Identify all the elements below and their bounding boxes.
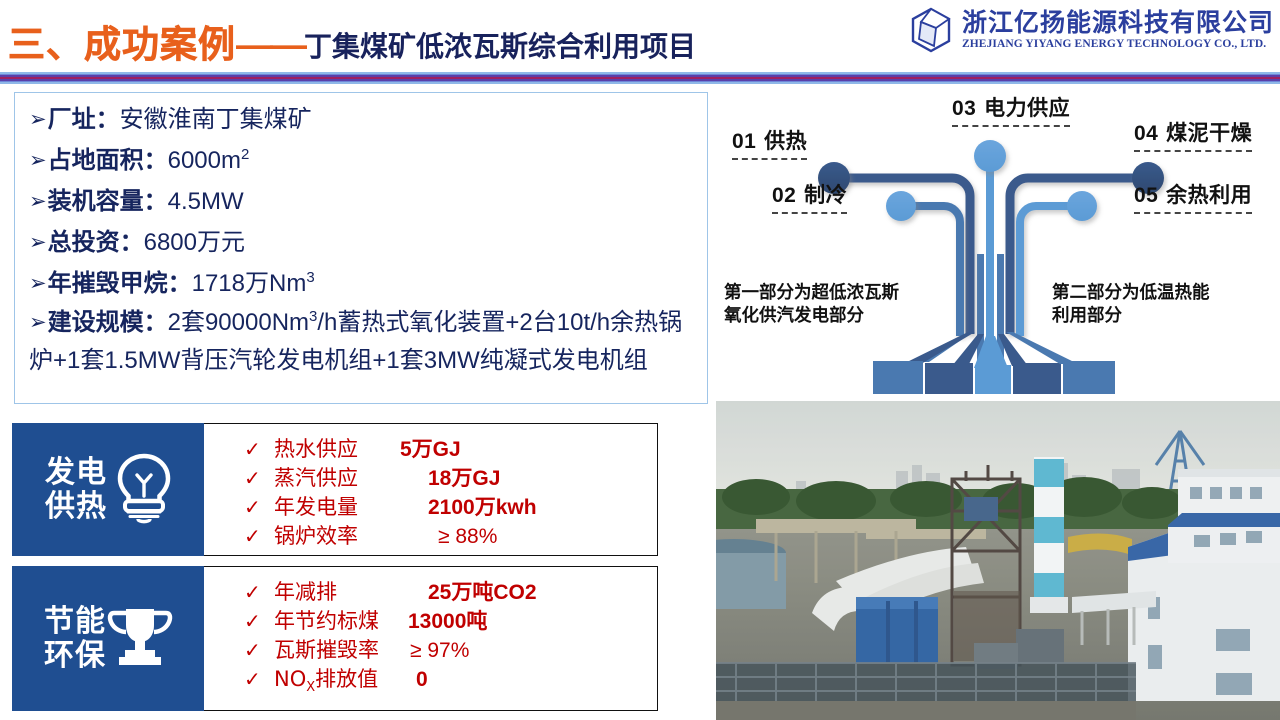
feature-body-eco: ✓ 年减排 25万吨CO2 ✓ 年节约标煤 13000吨 ✓ 瓦斯摧毁率 ≥ 9… [204,566,658,711]
scale-label: 建设规模 [48,308,144,336]
metric-value: ≥ 97% [400,639,469,663]
list-item: ✓ 年节约标煤 13000吨 [244,605,657,634]
list-item: ➢ 厂址 ： 安徽淮南丁集煤矿 [29,99,701,140]
list-item: ➢ 占地面积 ： 6000m2 [29,140,701,181]
slide-header: 三、 成功案例 —— 丁集煤矿低浓瓦斯综合利用项目 浙江亿扬能源科技有限公司 Z… [0,0,1280,72]
check-icon: ✓ [244,667,274,691]
diagram-label-03: 03 电力供应 [952,92,1070,127]
metric-name: 年发电量 [274,491,400,521]
list-item: ✓ 热水供应 5万GJ [244,433,657,462]
metric-name: 年减排 [274,576,400,606]
hexagon-logo-icon [908,6,954,54]
list-item: ✓ 年发电量 2100万kwh [244,491,657,520]
section-title: 成功案例 [84,14,236,68]
info-value: 4.5MW [168,188,244,216]
list-item: ✓ 瓦斯摧毁率 ≥ 97% [244,634,657,663]
company-logo: 浙江亿扬能源科技有限公司 ZHEJIANG YIYANG ENERGY TECH… [908,6,1274,54]
list-item: ✓ 年减排 25万吨CO2 [244,576,657,605]
logo-company-en: ZHEJIANG YIYANG ENERGY TECHNOLOGY CO., L… [962,38,1274,50]
bullet-arrow-icon: ➢ [29,109,47,130]
info-separator: ： [144,140,168,175]
metric-name: 锅炉效率 [274,520,400,550]
check-icon: ✓ [244,524,274,548]
metric-name: 蒸汽供应 [274,462,400,492]
metric-value: 2100万kwh [400,491,537,521]
info-label: 年摧毁甲烷 [48,263,168,298]
list-item: ✓ NOX排放值 0 [244,663,657,692]
node-05-dot [1067,191,1097,221]
list-item: ✓ 蒸汽供应 18万GJ [244,462,657,491]
info-separator: ： [144,181,168,216]
metric-value: ≥ 88% [400,525,497,549]
info-separator: ： [96,99,120,134]
header-divider [0,72,1280,84]
bullet-arrow-icon: ➢ [29,150,47,171]
check-icon: ✓ [244,609,274,633]
check-icon: ✓ [244,466,274,490]
scale-separator: ： [144,308,168,336]
project-info-box: ➢ 厂址 ： 安徽淮南丁集煤矿 ➢ 占地面积 ： 6000m2 ➢ 装机容量 ：… [14,92,708,404]
info-separator: ： [120,222,144,257]
list-item: ➢ 总投资 ： 6800万元 [29,222,701,263]
check-icon: ✓ [244,495,274,519]
feature-block-eco: 节能环保 ✓ 年减排 25万吨CO2 ✓ 年节约 [12,566,658,711]
metric-name: NOX排放值 [274,663,400,695]
metric-name: 年节约标煤 [274,605,400,635]
node-02-dot [886,191,916,221]
slide-root: 三、 成功案例 —— 丁集煤矿低浓瓦斯综合利用项目 浙江亿扬能源科技有限公司 Z… [0,0,1280,720]
logo-company-cn: 浙江亿扬能源科技有限公司 [962,10,1274,36]
plant-photo [716,401,1280,720]
info-label: 装机容量 [48,181,144,216]
check-icon: ✓ [244,638,274,662]
energy-flow-diagram: 01 供热 02 制冷 03 电力供应 04 煤泥干燥 05 余热利用 第一部分… [716,84,1280,400]
trophy-icon [102,603,178,674]
title-dash: —— [236,24,304,66]
check-icon: ✓ [244,437,274,461]
list-item: ➢ 年摧毁甲烷 ： 1718万Nm3 [29,263,701,304]
info-value-sup: 2 [241,146,249,163]
info-value: 6800万元 [144,222,245,257]
diagram-label-02: 02 制冷 [772,179,847,214]
feature-body-power: ✓ 热水供应 5万GJ ✓ 蒸汽供应 18万GJ ✓ 年发电量 2100万kwh… [204,423,658,556]
info-value-sup: 3 [306,269,314,286]
metric-name: 瓦斯摧毁率 [274,634,400,664]
bullet-arrow-icon: ➢ [29,273,47,294]
feature-tag-label: 节能环保 [44,605,106,672]
info-label: 占地面积 [48,140,144,175]
diagram-label-05: 05 余热利用 [1134,179,1252,214]
diagram-caption-left: 第一部分为超低浓瓦斯 氧化供汽发电部分 [724,282,899,328]
metric-value: 13000吨 [400,605,487,635]
project-title: 丁集煤矿低浓瓦斯综合利用项目 [304,25,696,65]
list-item: ✓ 锅炉效率 ≥ 88% [244,520,657,549]
feature-tag-label: 发电供热 [45,456,107,523]
info-label: 总投资 [48,222,120,257]
info-label: 厂址 [48,99,96,134]
plant-photo-graphic [716,401,1280,720]
bullet-arrow-icon: ➢ [29,310,47,334]
feature-block-power: 发电供热 ✓ 热水供应 5万GJ ✓ 蒸汽供应 18万 [12,423,658,556]
section-number: 三、 [8,14,84,68]
metric-value: 18万GJ [400,462,500,492]
feature-tag-power: 发电供热 [12,423,204,556]
info-separator: ： [168,263,192,298]
node-03-dot [974,140,1006,172]
feature-tag-eco: 节能环保 [12,566,204,711]
diagram-label-01: 01 供热 [732,125,807,160]
list-item-construction-scale: ➢建设规模：2套90000Nm3/h蓄热式氧化装置+2台10t/h余热锅炉+1套… [29,304,701,380]
lightbulb-icon [111,450,177,529]
project-info-list: ➢ 厂址 ： 安徽淮南丁集煤矿 ➢ 占地面积 ： 6000m2 ➢ 装机容量 ：… [29,99,701,380]
page-title: 三、 成功案例 —— 丁集煤矿低浓瓦斯综合利用项目 [8,14,696,68]
metric-name: 热水供应 [274,433,400,463]
bullet-arrow-icon: ➢ [29,232,47,253]
info-value: 6000m2 [168,146,250,175]
check-icon: ✓ [244,580,274,604]
list-item: ➢ 装机容量 ： 4.5MW [29,181,701,222]
scale-text-part1: 2套90000Nm [168,309,309,336]
diagram-label-04: 04 煤泥干燥 [1134,117,1252,152]
metric-value: 5万GJ [400,433,461,463]
bullet-arrow-icon: ➢ [29,191,47,212]
info-value: 1718万Nm3 [192,263,315,298]
metric-value: 0 [400,668,428,692]
info-value: 安徽淮南丁集煤矿 [120,99,312,134]
diagram-caption-right: 第二部分为低温热能 利用部分 [1052,282,1210,328]
metric-value: 25万吨CO2 [400,576,537,606]
